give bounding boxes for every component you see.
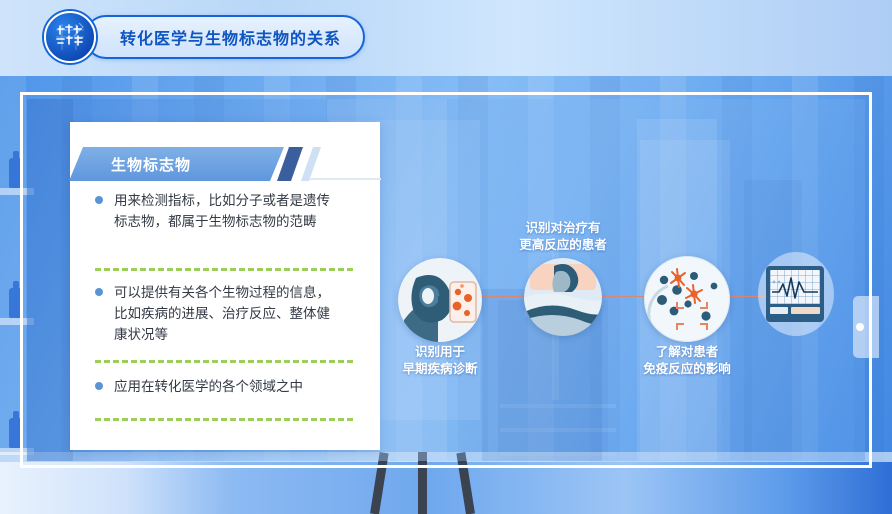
monitor-indicator-lights xyxy=(772,271,782,274)
divider-dashed-3 xyxy=(95,418,353,421)
caption-2-line-1: 识别对治疗有 xyxy=(500,220,626,237)
caption-3-line-1: 了解对患者 xyxy=(628,344,746,361)
biomarker-card: 生物标志物 用来检测指标，比如分子或者是遗传标志物，都属于生物标志物的范畴 可以… xyxy=(70,122,380,450)
side-tab-knob-icon xyxy=(856,323,864,331)
bullet-dot-icon xyxy=(95,382,103,390)
illustration-caption-1: 识别用于 早期疾病诊断 xyxy=(386,344,494,378)
head-scan-icon xyxy=(398,258,482,342)
monitor-base-panel xyxy=(770,307,820,314)
bullet-item-1: 用来检测指标，比如分子或者是遗传标志物，都属于生物标志物的范畴 xyxy=(95,190,357,232)
slide-title-chip: 转化医学与生物标志物的关系 xyxy=(84,15,365,59)
logo-glyph-icon xyxy=(50,17,90,57)
bullet-dot-icon xyxy=(95,196,103,204)
bullet-text-1: 用来检测指标，比如分子或者是遗传标志物，都属于生物标志物的范畴 xyxy=(114,190,339,232)
illustration-caption-2: 识别对治疗有 更高反应的患者 xyxy=(500,220,626,254)
divider-dashed-2 xyxy=(95,360,353,363)
card-banner-title: 生物标志物 xyxy=(111,154,191,175)
ecg-monitor-icon xyxy=(766,266,824,322)
monitor-base-right xyxy=(791,307,820,314)
divider-dashed-1 xyxy=(95,268,353,271)
side-tab-handle[interactable] xyxy=(853,296,879,358)
bullet-item-3: 应用在转化医学的各个领域之中 xyxy=(95,376,357,397)
company-logo-icon xyxy=(44,11,96,63)
card-banner: 生物标志物 xyxy=(69,147,329,181)
bottom-band xyxy=(0,462,892,514)
immune-cells-microscope-icon xyxy=(644,256,730,342)
bullet-text-3: 应用在转化医学的各个领域之中 xyxy=(114,376,339,397)
bullet-text-2: 可以提供有关各个生物过程的信息，比如疾病的进展、治疗反应、整体健康状况等 xyxy=(114,282,339,345)
page-title: 转化医学与生物标志物的关系 xyxy=(120,25,341,49)
patient-in-bed-icon xyxy=(524,258,602,336)
slide-canvas: 转化医学与生物标志物的关系 生物标志物 用来检测指标，比如分子或者是遗传标志物，… xyxy=(0,0,892,514)
bullet-dot-icon xyxy=(95,288,103,296)
bullet-item-2: 可以提供有关各个生物过程的信息，比如疾病的进展、治疗反应、整体健康状况等 xyxy=(95,282,357,345)
banner-shape-accent-light xyxy=(301,147,321,181)
illustration-caption-3: 了解对患者 免疫反应的影响 xyxy=(628,344,746,378)
banner-underline xyxy=(309,178,381,180)
caption-3-line-2: 免疫反应的影响 xyxy=(628,361,746,378)
connector-line-1 xyxy=(480,296,528,297)
caption-1-line-1: 识别用于 xyxy=(386,344,494,361)
monitor-base-left xyxy=(770,307,788,314)
monitor-screen xyxy=(770,270,820,304)
connector-line-2 xyxy=(602,296,644,297)
caption-1-line-2: 早期疾病诊断 xyxy=(386,361,494,378)
caption-2-line-2: 更高反应的患者 xyxy=(500,237,626,254)
